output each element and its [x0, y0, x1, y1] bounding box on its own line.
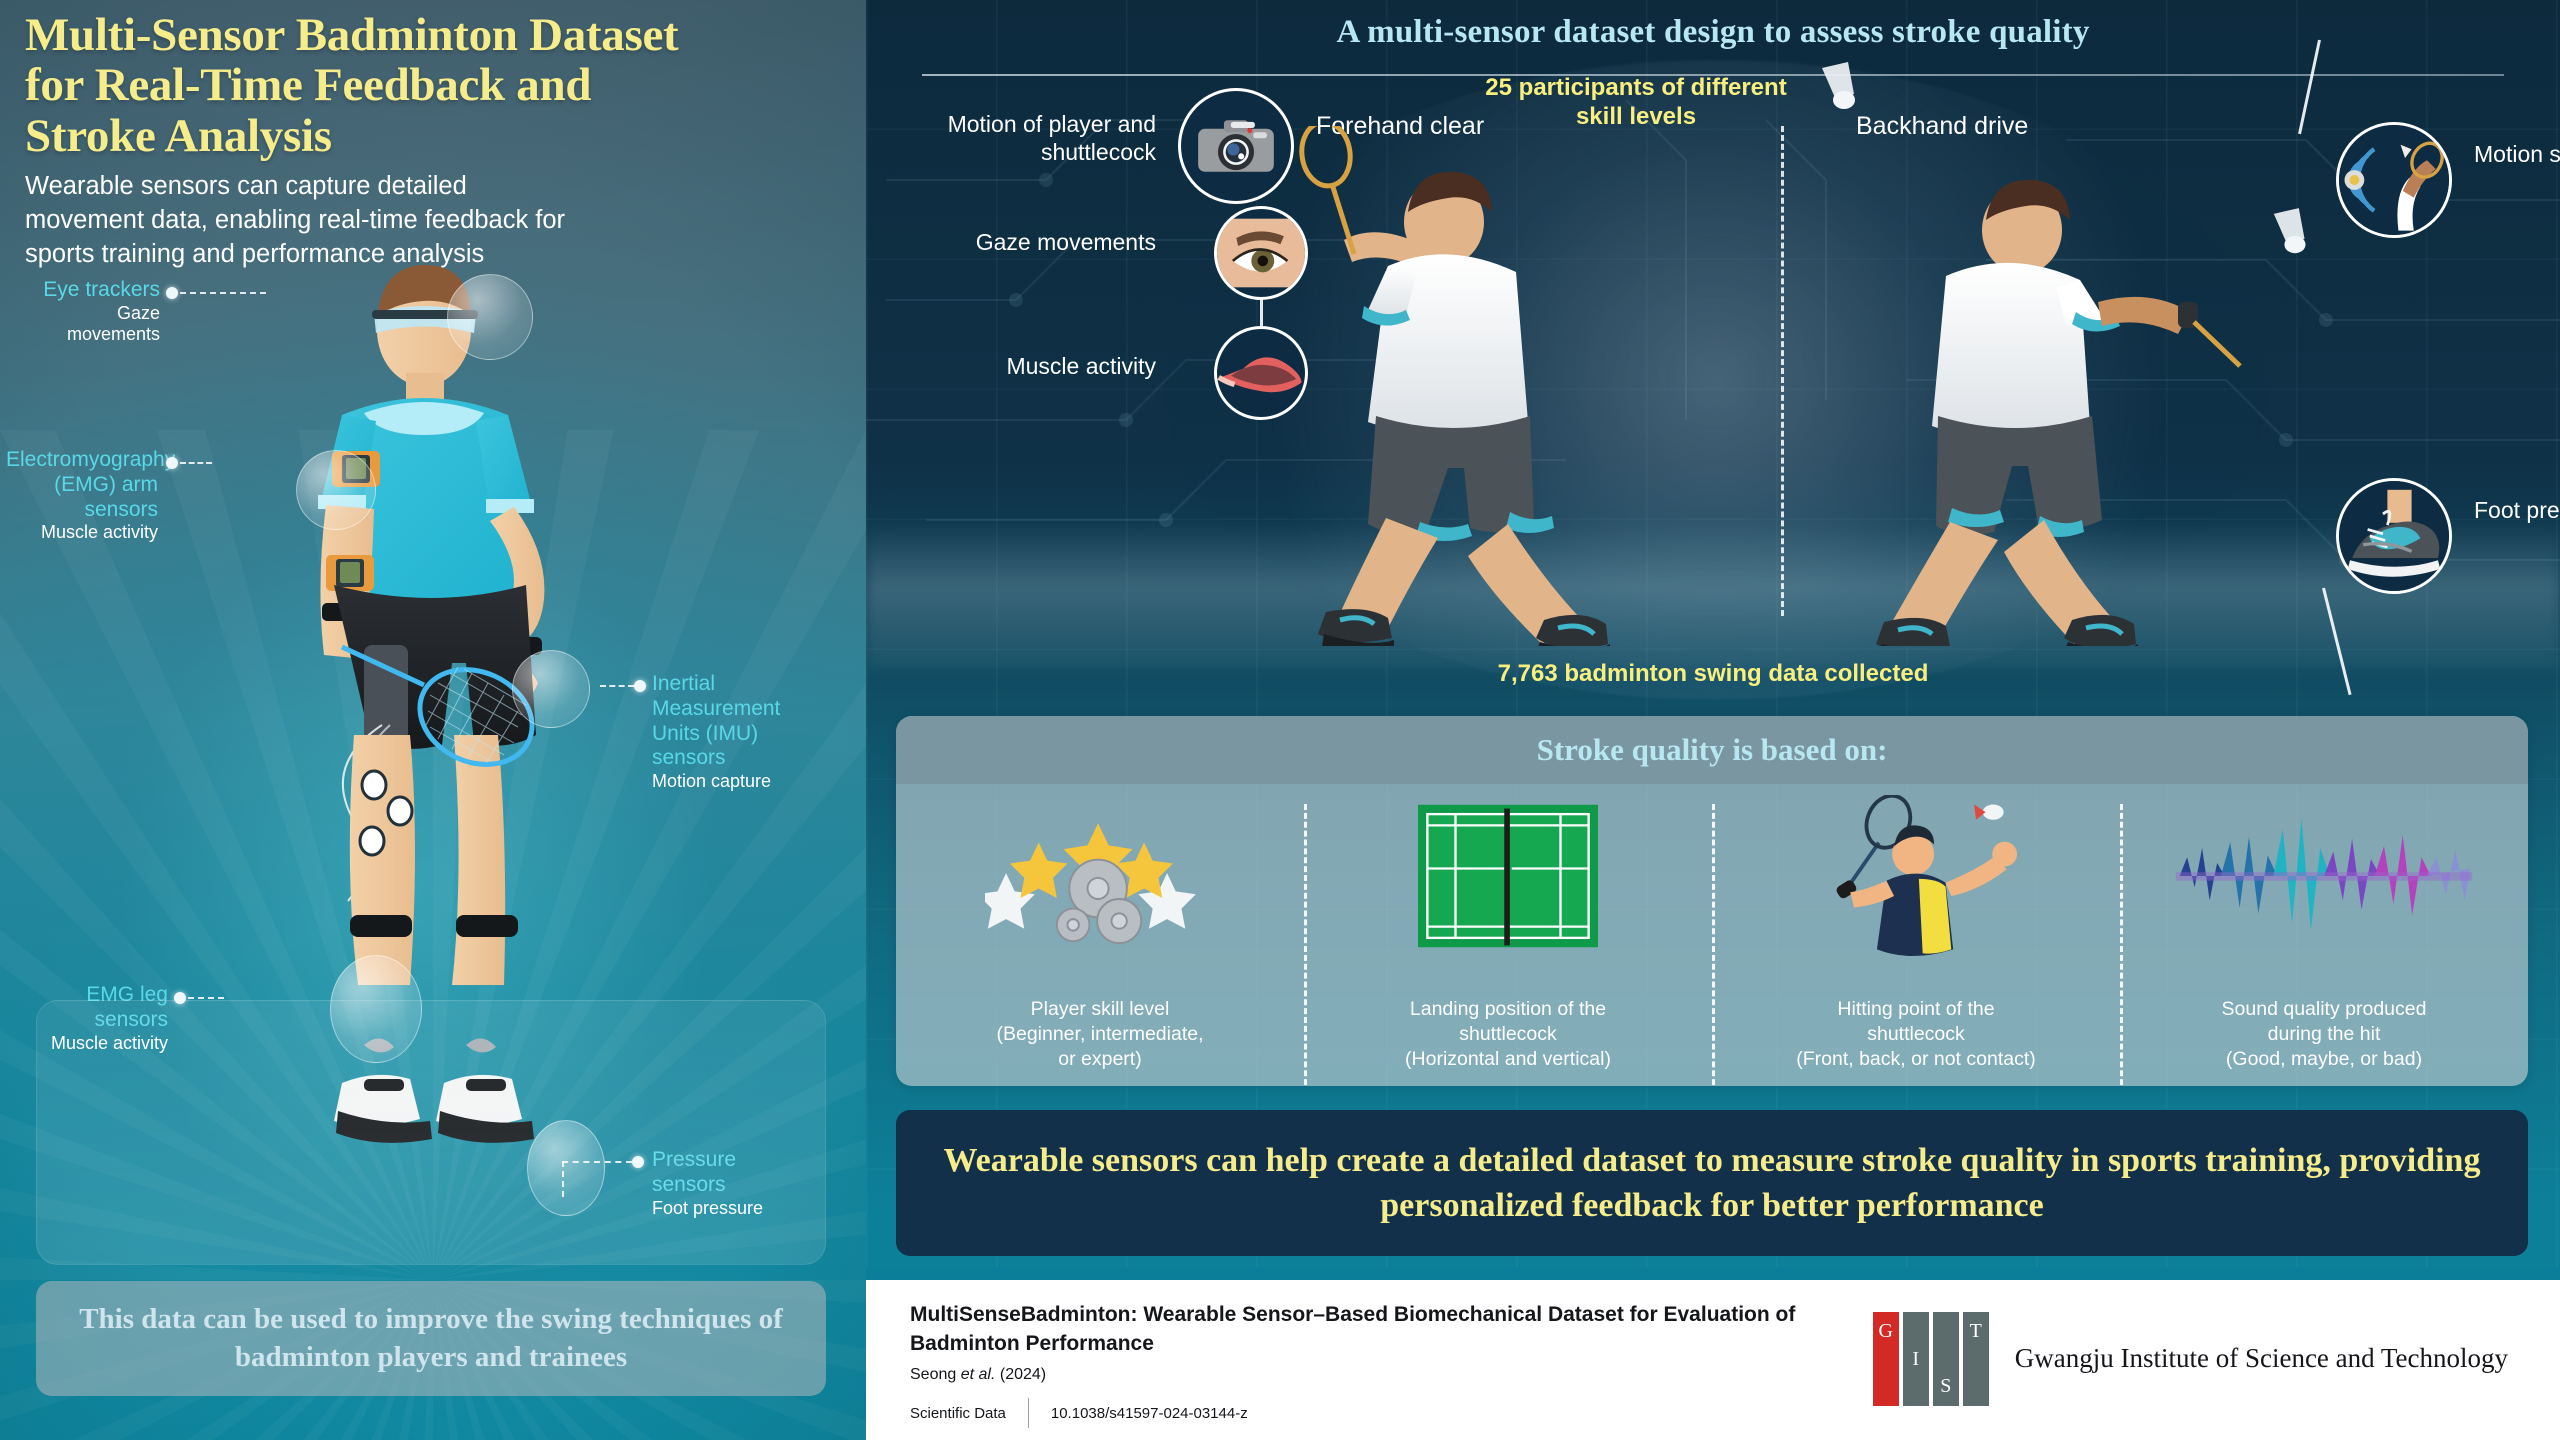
journal-name: Scientific Data: [910, 1405, 1006, 1422]
paper-authors: Seong et al. (2024): [910, 1366, 1046, 1384]
stroke-quality-header: Stroke quality is based on:: [896, 716, 2528, 784]
callout-eye-trackers: Eye trackers Gaze movements: [20, 278, 160, 346]
stroke-quality-caption: Landing position of the shuttlecock (Hor…: [1343, 997, 1673, 1072]
callout-sub: Motion capture: [652, 771, 834, 793]
player-hitting-icon: [1712, 792, 2120, 960]
footer-top-strip: [866, 1268, 2560, 1280]
callout-sub: Muscle activity: [6, 522, 158, 544]
stroke-quality-item: Sound quality produced during the hit (G…: [2120, 784, 2528, 1086]
stroke-quality-caption: Sound quality produced during the hit (G…: [2159, 997, 2489, 1072]
right-banner-text: Wearable sensors can help create a detai…: [896, 1138, 2528, 1228]
paper-title: MultiSenseBadminton: Wearable Sensor–Bas…: [910, 1300, 1810, 1359]
callout-emg-arm: Electromyography (EMG) arm sensors Muscl…: [6, 448, 158, 544]
shuttlecock-icon: [1818, 60, 1868, 118]
authors-year: (2024): [1000, 1366, 1046, 1383]
stroke-quality-item: Hitting point of the shuttlecock (Front,…: [1712, 784, 2120, 1086]
gist-letter-i: I: [1903, 1312, 1929, 1406]
left-glass-panel: [36, 1000, 826, 1265]
left-banner-text: This data can be used to improve the swi…: [36, 1301, 826, 1375]
sensor-label-gaze: Gaze movements: [926, 228, 1156, 256]
swing-data-note: 7,763 badminton swing data collected: [866, 660, 2560, 689]
stroke-quality-columns: Player skill level (Beginner, intermedia…: [896, 784, 2528, 1086]
gist-logo-mark: G I S T: [1873, 1312, 1989, 1406]
right-panel-title: A multi-sensor dataset design to assess …: [866, 14, 2560, 51]
callout-title: Inertial Measurement Units (IMU) sensors: [652, 672, 834, 771]
badminton-court-icon: [1304, 792, 1712, 960]
authors-etal: et al.: [961, 1366, 996, 1383]
gist-letter-g: G: [1873, 1312, 1899, 1406]
motion-sensor-icon: [2336, 122, 2452, 238]
participants-note: 25 participants of different skill level…: [1466, 74, 1806, 132]
callout-sub: Gaze movements: [20, 303, 160, 346]
stars-gears-icon: [896, 792, 1304, 960]
infographic-root: Multi-Sensor Badminton Dataset for Real-…: [0, 0, 2560, 1440]
right-panel: A multi-sensor dataset design to assess …: [866, 0, 2560, 1440]
gist-org-name: Gwangju Institute of Science and Technol…: [2015, 1341, 2508, 1376]
zoom-bubble-imu-wrist: [512, 650, 590, 728]
callout-dot: [634, 680, 646, 692]
journal-divider: [1028, 1398, 1029, 1428]
callout-title: Eye trackers: [20, 278, 160, 303]
zoom-bubble-eye: [447, 274, 533, 360]
eye-icon: [1214, 206, 1308, 300]
right-bottom-banner: Wearable sensors can help create a detai…: [896, 1110, 2528, 1256]
stroke-quality-item: Landing position of the shuttlecock (Hor…: [1304, 784, 1712, 1086]
stroke-quality-caption: Hitting point of the shuttlecock (Front,…: [1751, 997, 2081, 1072]
left-panel: Multi-Sensor Badminton Dataset for Real-…: [0, 0, 866, 1440]
sensor-label-muscle: Muscle activity: [906, 352, 1156, 380]
player-forehand-illustration: [1296, 126, 1716, 646]
callout-imu: Inertial Measurement Units (IMU) sensors…: [652, 672, 834, 793]
callout-leader-line: [180, 462, 212, 464]
doi-text[interactable]: 10.1038/s41597-024-03144-z: [1051, 1405, 1248, 1422]
gist-logo: G I S T Gwangju Institute of Science and…: [1873, 1312, 2508, 1406]
sound-waveform-icon: [2120, 792, 2528, 960]
camera-icon: [1178, 88, 1294, 204]
page-title: Multi-Sensor Badminton Dataset for Real-…: [25, 10, 725, 161]
left-bottom-banner: This data can be used to improve the swi…: [36, 1281, 826, 1396]
sensor-label-motion-sensor: Motion sensor: [2474, 140, 2560, 168]
shoe-icon: [2336, 478, 2452, 594]
callout-leader-line: [180, 292, 266, 294]
callout-title: Electromyography (EMG) arm sensors: [6, 448, 158, 522]
callout-dot: [166, 287, 178, 299]
sensor-label-foot-pressure: Foot pressure: [2474, 496, 2560, 524]
stroke-quality-heading: Stroke quality is based on:: [1537, 732, 1888, 768]
muscle-icon: [1214, 326, 1308, 420]
gist-letter-s: S: [1933, 1312, 1959, 1406]
callout-dot: [166, 457, 178, 469]
icon-connector-line: [1260, 298, 1263, 328]
sensor-label-motion: Motion of player and shuttlecock: [916, 110, 1156, 166]
player-backhand-illustration: [1826, 126, 2246, 646]
stroke-quality-panel: Stroke quality is based on:: [896, 716, 2528, 1086]
shuttlecock-icon: [2270, 206, 2318, 262]
callout-leader-line: [188, 997, 224, 999]
gist-letter-t: T: [1963, 1312, 1989, 1406]
authors-name: Seong: [910, 1366, 956, 1383]
stroke-divider: [1781, 126, 1784, 616]
stroke-quality-item: Player skill level (Beginner, intermedia…: [896, 784, 1304, 1086]
journal-row: Scientific Data 10.1038/s41597-024-03144…: [910, 1398, 1248, 1428]
callout-leader-line: [600, 685, 634, 687]
stroke-quality-caption: Player skill level (Beginner, intermedia…: [935, 997, 1265, 1072]
footer: MultiSenseBadminton: Wearable Sensor–Bas…: [866, 1280, 2560, 1440]
zoom-bubble-emg-arm: [296, 450, 376, 530]
